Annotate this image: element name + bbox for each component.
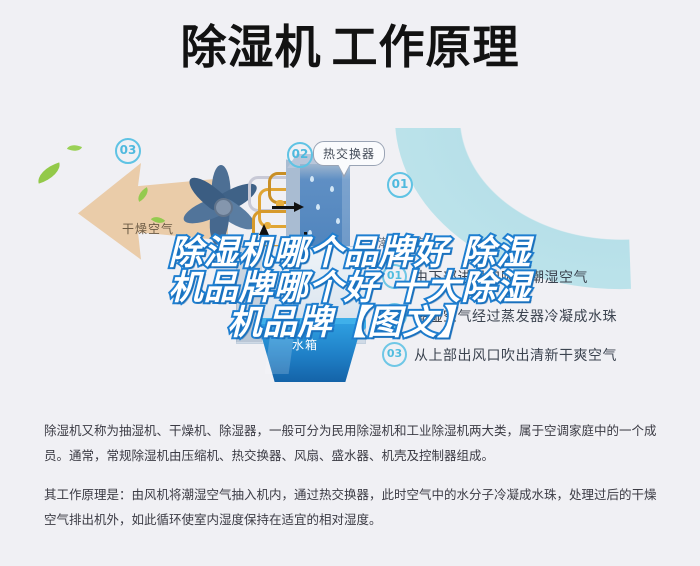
body-paragraph-2: 其工作原理是：由风机将潮湿空气抽入机内，通过热交换器，此时空气中的水分子冷凝成水… <box>44 482 660 532</box>
step-text: 从上部出风口吹出清新干爽空气 <box>414 345 617 365</box>
title-segment-product: 除湿机 <box>181 20 322 74</box>
step-text: 潮湿空气经过蒸发器冷凝成水珠 <box>414 306 617 326</box>
leaf-icon <box>34 162 63 183</box>
step-number: 02 <box>382 303 407 328</box>
badge-01: 01 <box>387 172 413 198</box>
badge-03: 03 <box>115 138 141 164</box>
wet-air-label: 潮湿空气 <box>378 234 430 251</box>
step-text: 由下部进风口吸入潮湿空气 <box>414 267 588 287</box>
list-item: 01 由下部进风口吸入潮湿空气 <box>382 264 692 289</box>
step-list: 01 由下部进风口吸入潮湿空气 02 潮湿空气经过蒸发器冷凝成水珠 03 从上部… <box>382 264 692 381</box>
badge-02: 02 <box>287 142 313 168</box>
leaf-icon <box>67 142 82 155</box>
illustration-stage: 干燥空气 <box>0 128 700 398</box>
article-body: 除湿机又称为抽湿机、干燥机、除湿器，一般可分为民用除湿机和工业除湿机两大类，属于… <box>44 418 660 532</box>
step-number: 01 <box>382 264 407 289</box>
title-text: 除湿机工作原理 <box>181 24 520 70</box>
list-item: 02 潮湿空气经过蒸发器冷凝成水珠 <box>382 303 692 328</box>
flow-arrow-shaft <box>272 206 294 209</box>
flow-arrow-right-icon <box>294 202 304 212</box>
title-segment-topic: 工作原理 <box>332 20 520 74</box>
body-paragraph-1: 除湿机又称为抽湿机、干燥机、除湿器，一般可分为民用除湿机和工业除湿机两大类，属于… <box>44 418 660 468</box>
page-root: 除湿机工作原理 干燥空气 <box>0 0 700 566</box>
list-item: 03 从上部出风口吹出清新干爽空气 <box>382 342 692 367</box>
page-title: 除湿机工作原理 <box>0 24 700 70</box>
water-tank-label: 水箱 <box>292 336 318 353</box>
dry-air-label: 干燥空气 <box>122 220 174 237</box>
heat-exchanger-callout: 热交换器 <box>313 141 385 166</box>
step-number: 03 <box>382 342 407 367</box>
flow-arrow-up-icon <box>259 224 269 235</box>
